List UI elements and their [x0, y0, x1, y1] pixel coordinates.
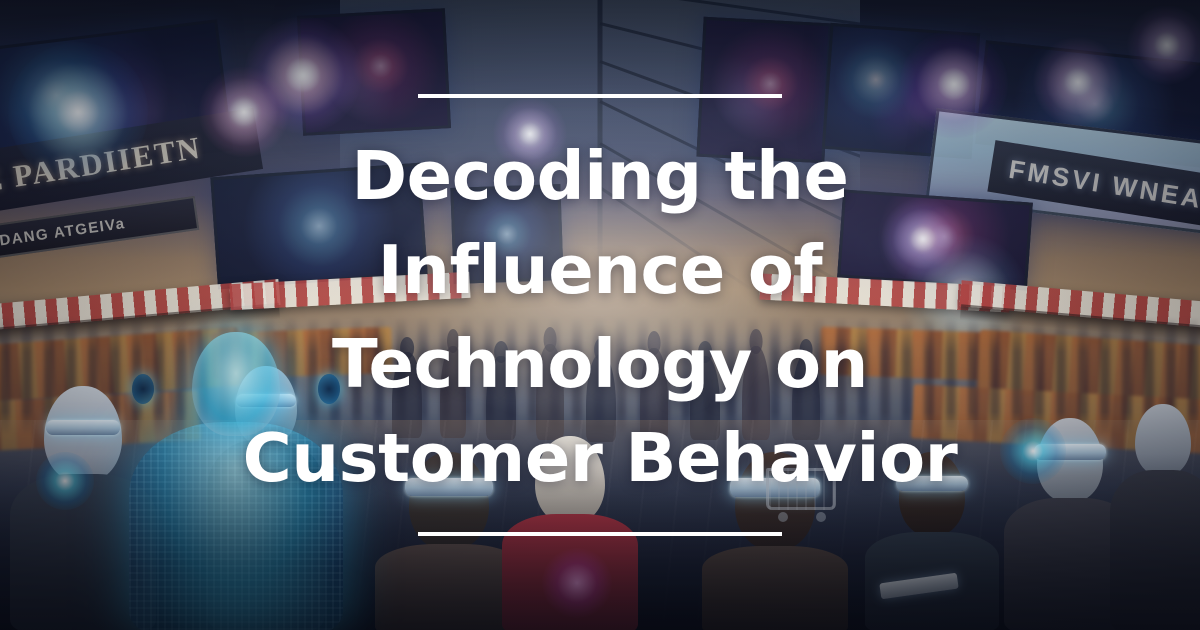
- title-overlay: Decoding the Influence of Technology on …: [0, 0, 1200, 630]
- title-rule-bottom: [418, 532, 782, 536]
- title-line-4: Customer Behavior: [243, 411, 958, 505]
- title-rule-top: [418, 94, 782, 98]
- title-line-3: Technology on: [243, 317, 958, 411]
- title-line-2: Influence of: [243, 223, 958, 317]
- page-title: Decoding the Influence of Technology on …: [243, 129, 958, 505]
- hero-banner: E PARDIIETN CTDANG ATGEIVa FMSVI WNEA: [0, 0, 1200, 630]
- title-line-1: Decoding the: [243, 129, 958, 223]
